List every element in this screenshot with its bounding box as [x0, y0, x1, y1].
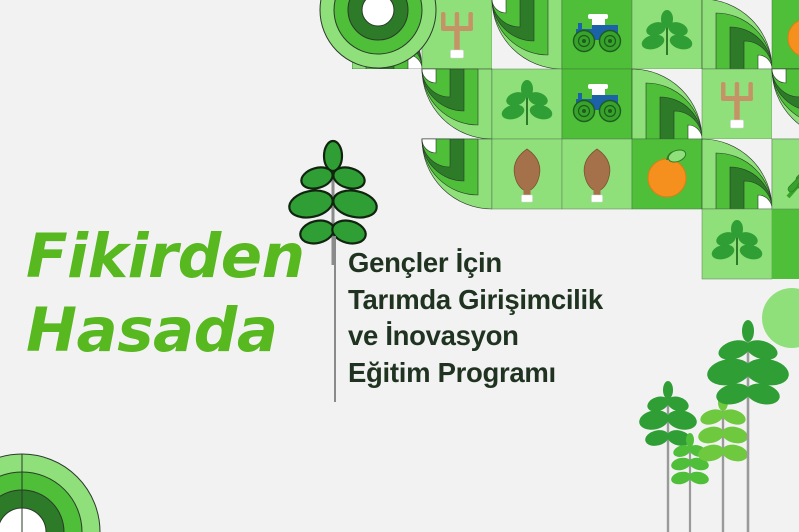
subtitle-line-2: Tarımda Girişimcilik — [348, 282, 678, 319]
corner-arcs-bottom-left — [0, 454, 100, 532]
tile-arc — [772, 209, 799, 279]
tile-tractor — [562, 0, 632, 69]
tile-arc — [492, 0, 562, 69]
tile-wheat-edge — [772, 139, 799, 209]
vertical-divider — [334, 236, 336, 402]
title-line-2: Hasada — [26, 302, 326, 360]
tile-arc — [702, 0, 772, 69]
tile-arc — [352, 69, 422, 139]
subtitle-line-4: Eğitim Programı — [348, 355, 678, 392]
tile-shovel — [492, 139, 562, 209]
tile-arc — [772, 69, 799, 139]
subtitle-line-1: Gençler İçin — [348, 245, 678, 282]
tile-plant — [492, 69, 562, 139]
tile-arc — [632, 69, 702, 139]
tile-arc — [422, 139, 492, 209]
tile-pitchfork — [702, 69, 772, 139]
tile-orange — [632, 139, 702, 209]
tile-orange — [562, 139, 632, 209]
tile-orange — [772, 0, 799, 69]
tile-tractor — [562, 69, 632, 139]
poster-wordmark: Fikirden Hasada — [26, 228, 326, 360]
tile-plant — [702, 209, 772, 279]
tile-plant — [632, 0, 702, 69]
tile-arc — [422, 69, 492, 139]
poster-subtitle: Gençler İçin Tarımda Girişimcilik ve İno… — [348, 245, 678, 391]
title-line-1: Fikirden — [26, 228, 326, 286]
poster-canvas: Fikirden Hasada Gençler İçin Tarımda Gir… — [0, 0, 799, 532]
subtitle-line-3: ve İnovasyon — [348, 318, 678, 355]
tile-arc — [702, 139, 772, 209]
